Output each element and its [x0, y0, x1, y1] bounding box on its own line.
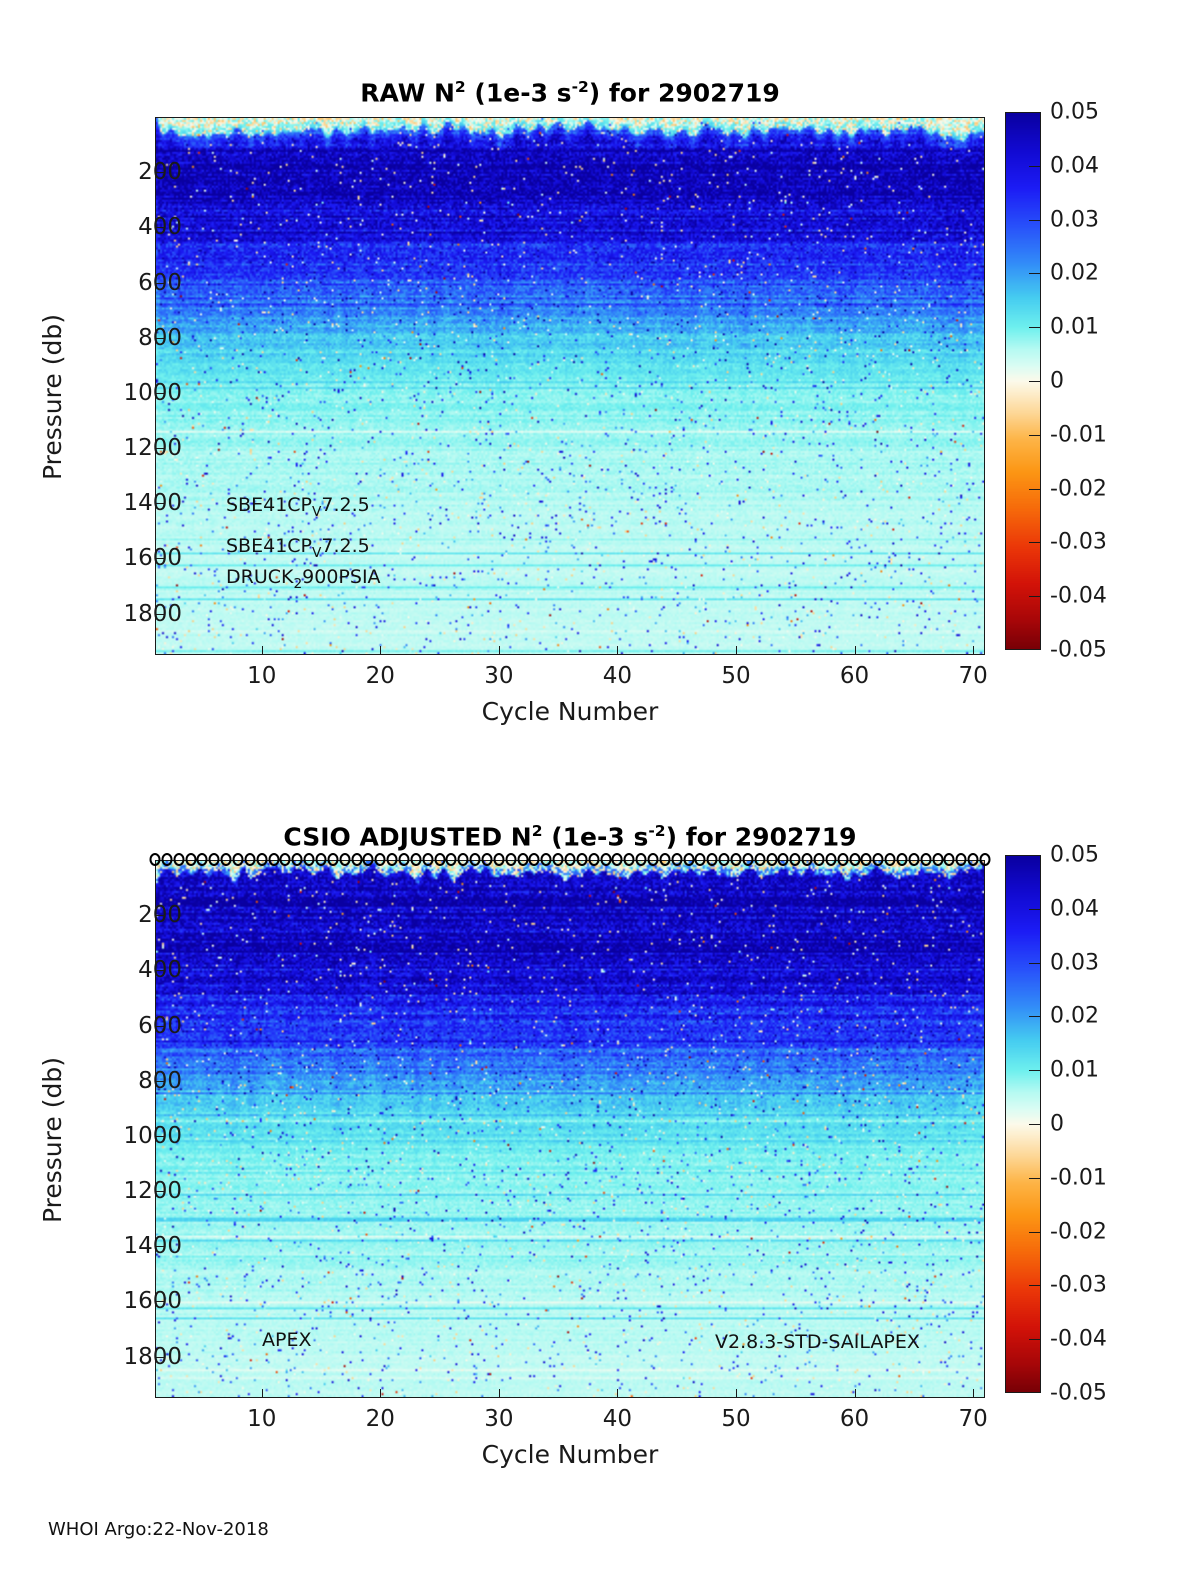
adj-x-tick-label: 60: [840, 1406, 869, 1432]
adj-y-tick-mark: [155, 970, 164, 971]
adj-colorbar-tick-mark: [1029, 963, 1040, 964]
adj-y-tick-mark: [155, 1081, 164, 1082]
adj-colorbar-tick-label: -0.03: [1050, 1273, 1107, 1298]
adj-title-prefix: CSIO ADJUSTED N: [283, 822, 531, 851]
adj-colorbar-tick-label: 0.02: [1050, 1004, 1099, 1029]
adj-y-axis-label: Pressure (db): [38, 1057, 67, 1223]
adj-heatmap-axes: [155, 860, 985, 1398]
adj-title-sup1: 2: [532, 822, 543, 840]
adj-title-suffix: ) for 2902719: [666, 822, 857, 851]
adj-colorbar-tick-label: 0.03: [1050, 950, 1099, 975]
adj-colorbar-tick-mark: [1029, 1016, 1040, 1017]
adj-colorbar-tick-label: -0.01: [1050, 1165, 1107, 1190]
adj-y-tick-mark: [155, 1136, 164, 1137]
adj-y-tick-mark: [155, 1191, 164, 1192]
panel-csio-adjusted: CSIO ADJUSTED N2 (1e-3 s-2) for 2902719 …: [0, 0, 1200, 1500]
adj-colorbar-tick-label: -0.02: [1050, 1219, 1107, 1244]
adj-colorbar-tick-label: -0.04: [1050, 1327, 1107, 1352]
adj-y-tick-label: 1200: [123, 1178, 182, 1204]
adj-colorbar-tick-label: 0.04: [1050, 896, 1099, 921]
adj-x-tick-mark: [736, 1389, 737, 1398]
adj-colorbar-tick-mark: [1029, 1285, 1040, 1286]
adj-colorbar-tick-label: 0.01: [1050, 1058, 1099, 1083]
adj-x-tick-label: 30: [484, 1406, 513, 1432]
adj-x-tick-label: 10: [247, 1406, 276, 1432]
adj-x-tick-mark: [973, 1389, 974, 1398]
adj-x-tick-mark: [617, 1389, 618, 1398]
adj-heatmap-canvas: [156, 861, 984, 1397]
adj-x-tick-label: 20: [366, 1406, 395, 1432]
adj-colorbar-tick-label: -0.05: [1050, 1381, 1107, 1406]
adj-y-tick-label: 1800: [123, 1344, 182, 1370]
adj-colorbar-tick-mark: [1029, 1124, 1040, 1125]
adj-colorbar-tick-mark: [1029, 1070, 1040, 1071]
adj-colorbar-tick-mark: [1029, 1178, 1040, 1179]
adj-x-tick-mark: [262, 1389, 263, 1398]
adj-y-tick-label: 1600: [123, 1288, 182, 1314]
adj-colorbar-tick-label: 0.05: [1050, 843, 1099, 868]
adj-x-tick-label: 40: [603, 1406, 632, 1432]
adj-title-sup2: -2: [648, 822, 665, 840]
adj-y-tick-mark: [155, 1246, 164, 1247]
adj-annotation-float-type: APEX: [262, 1329, 311, 1351]
adj-annotation-firmware: V2.8.3-STD-SAILAPEX: [715, 1331, 920, 1353]
adj-title-mid: (1e-3 s: [543, 822, 649, 851]
adj-x-tick-mark: [380, 1389, 381, 1398]
adj-y-tick-mark: [155, 1357, 164, 1358]
adj-x-tick-label: 70: [959, 1406, 988, 1432]
adj-y-tick-mark: [155, 915, 164, 916]
adj-colorbar-tick-mark: [1029, 1339, 1040, 1340]
adj-y-tick-mark: [155, 1301, 164, 1302]
adj-y-tick-label: 1400: [123, 1233, 182, 1259]
adj-colorbar-tick-mark: [1029, 1232, 1040, 1233]
adj-colorbar-tick-mark: [1029, 909, 1040, 910]
adj-y-tick-mark: [155, 1026, 164, 1027]
footer-credit: WHOI Argo:22-Nov-2018: [48, 1519, 269, 1540]
adj-y-tick-label: 1000: [123, 1123, 182, 1149]
adj-x-tick-mark: [499, 1389, 500, 1398]
adj-plot-title: CSIO ADJUSTED N2 (1e-3 s-2) for 2902719: [155, 822, 985, 851]
adj-x-axis-label: Cycle Number: [155, 1440, 985, 1469]
adj-colorbar-tick-label: 0: [1050, 1112, 1064, 1137]
adj-x-tick-mark: [855, 1389, 856, 1398]
adj-x-tick-label: 50: [721, 1406, 750, 1432]
